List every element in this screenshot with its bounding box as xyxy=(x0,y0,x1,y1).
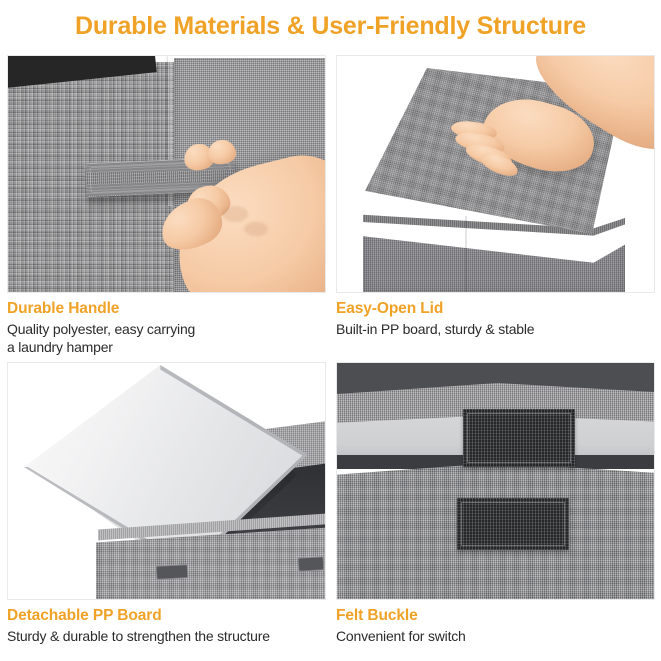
caption-detachable-pp-board: Detachable PP Board Sturdy & durable to … xyxy=(7,600,326,645)
panel-body-line: a laundry hamper xyxy=(7,338,326,356)
panel-heading: Detachable PP Board xyxy=(7,606,326,625)
feature-cell-felt-buckle: Felt Buckle Convenient for switch xyxy=(336,362,655,645)
photo-easy-open-lid xyxy=(336,55,655,293)
infographic-page: Durable Materials & User-Friendly Struct… xyxy=(0,0,661,661)
panel-body-line: Sturdy & durable to strengthen the struc… xyxy=(7,627,326,645)
panel-heading: Durable Handle xyxy=(7,299,326,318)
knuckle-shading xyxy=(244,222,268,236)
felt-buckle-patch-body xyxy=(457,498,569,550)
page-title: Durable Materials & User-Friendly Struct… xyxy=(0,12,661,41)
knuckle-shading xyxy=(222,206,248,222)
feature-cell-easy-open-lid: Easy-Open Lid Built-in PP board, sturdy … xyxy=(336,55,655,338)
bin-label-tag xyxy=(298,556,325,571)
box-corner-crease xyxy=(465,216,467,293)
panel-body: Quality polyester, easy carrying a laund… xyxy=(7,320,326,356)
photo-durable-handle xyxy=(7,55,326,293)
caption-easy-open-lid: Easy-Open Lid Built-in PP board, sturdy … xyxy=(336,293,655,338)
panel-body-line: Convenient for switch xyxy=(336,627,655,645)
panel-heading: Easy-Open Lid xyxy=(336,299,655,318)
felt-buckle-patch-lid xyxy=(463,409,575,467)
feature-cell-detachable-pp-board: Detachable PP Board Sturdy & durable to … xyxy=(7,362,326,645)
panel-body-line: Quality polyester, easy carrying xyxy=(7,320,326,338)
feature-cell-durable-handle: Durable Handle Quality polyester, easy c… xyxy=(7,55,326,356)
feature-grid: Durable Handle Quality polyester, easy c… xyxy=(0,55,661,661)
panel-body: Built-in PP board, sturdy & stable xyxy=(336,320,655,338)
panel-body-line: Built-in PP board, sturdy & stable xyxy=(336,320,655,338)
photo-felt-buckle xyxy=(336,362,655,600)
panel-heading: Felt Buckle xyxy=(336,606,655,625)
panel-body: Convenient for switch xyxy=(336,627,655,645)
caption-felt-buckle: Felt Buckle Convenient for switch xyxy=(336,600,655,645)
panel-body: Sturdy & durable to strengthen the struc… xyxy=(7,627,326,645)
bin-label-tag xyxy=(156,564,189,580)
caption-durable-handle: Durable Handle Quality polyester, easy c… xyxy=(7,293,326,356)
photo-detachable-pp-board xyxy=(7,362,326,600)
